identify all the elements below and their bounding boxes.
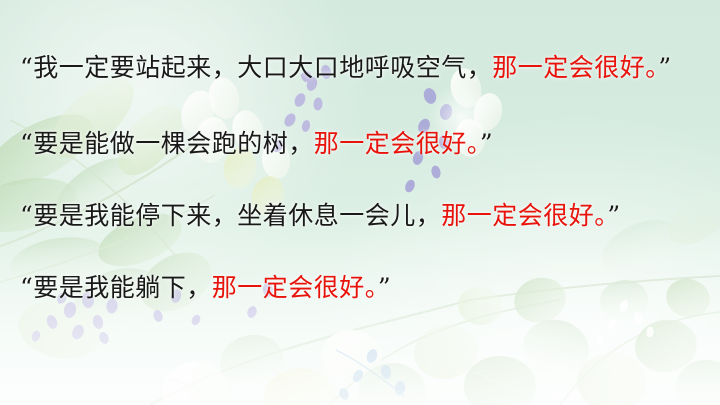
quote-line-1-highlight: 那一定会很好。 [492, 53, 658, 82]
quote-line-3-highlight: 那一定会很好。 [441, 201, 607, 230]
quote-line-4-plain: 要是我能躺下， [33, 273, 212, 302]
open-quote-3: “ [20, 201, 33, 230]
open-quote-2: “ [20, 129, 33, 158]
open-quote-4: “ [20, 273, 33, 302]
quote-line-2: “要是能做一棵会跑的树，那一定会很好。” [20, 131, 493, 156]
quote-line-2-plain: 要是能做一棵会跑的树， [33, 129, 314, 158]
quote-lines: “我一定要站起来，大口大口地呼吸空气，那一定会很好。” “要是能做一棵会跑的树，… [0, 0, 720, 405]
slide-canvas: “我一定要站起来，大口大口地呼吸空气，那一定会很好。” “要是能做一棵会跑的树，… [0, 0, 720, 405]
close-quote-1: ” [658, 53, 671, 82]
quote-line-1-plain: 我一定要站起来，大口大口地呼吸空气， [33, 53, 492, 82]
quote-line-4: “要是我能躺下，那一定会很好。” [20, 275, 391, 300]
quote-line-3: “要是我能停下来，坐着休息一会儿，那一定会很好。” [20, 203, 621, 228]
quote-line-4-highlight: 那一定会很好。 [212, 273, 378, 302]
quote-line-2-highlight: 那一定会很好。 [314, 129, 480, 158]
quote-line-1: “我一定要站起来，大口大口地呼吸空气，那一定会很好。” [20, 55, 672, 80]
close-quote-4: ” [378, 273, 391, 302]
open-quote-1: “ [20, 53, 33, 82]
close-quote-3: ” [607, 201, 620, 230]
close-quote-2: ” [480, 129, 493, 158]
quote-line-3-plain: 要是我能停下来，坐着休息一会儿， [33, 201, 441, 230]
